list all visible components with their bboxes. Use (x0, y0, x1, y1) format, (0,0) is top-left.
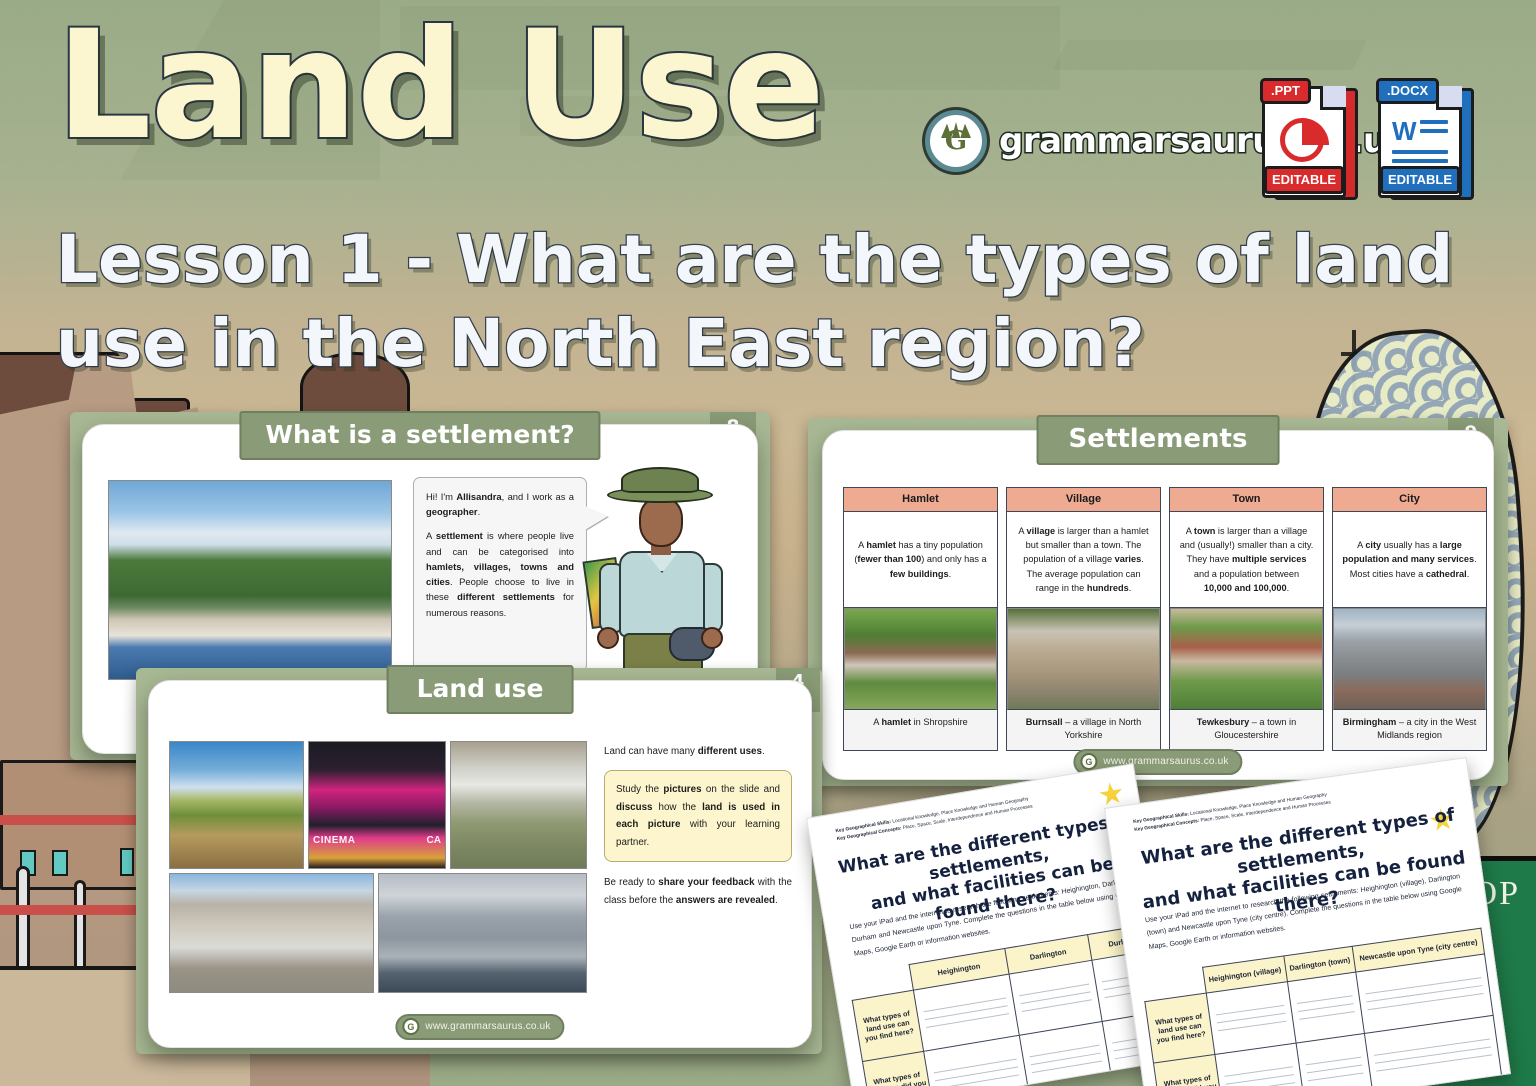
cinema-sign-label: CINEMA (313, 835, 355, 846)
hamlet-photo (844, 608, 997, 710)
bubble-paragraph-1: Hi! I'm Allisandra, and I work as a geog… (426, 489, 574, 519)
card-body-city: A city usually has a large population an… (1333, 512, 1486, 608)
file-format-badges: .PPT EDITABLE W .DOCX EDITABLE (1262, 78, 1474, 200)
character-head (639, 497, 683, 547)
land-use-callout-box: Study the pictures on the slide and disc… (604, 770, 792, 862)
slide-title-settlements: Settlements (1037, 415, 1280, 465)
city-photo (1333, 608, 1486, 710)
card-caption-hamlet: A hamlet in Shropshire (844, 710, 997, 750)
table-answer-cell[interactable] (1206, 982, 1296, 1055)
table-row-label-1: What types of land use can you find here… (1145, 993, 1215, 1063)
header: Land Use Lesson 1 - What are the types o… (0, 0, 1536, 400)
slide-land-use[interactable]: Land use CINEMA CA Land can have many di… (148, 680, 812, 1048)
page-title: Land Use (56, 10, 824, 163)
card-caption-village: Burnsall – a village in North Yorkshire (1007, 710, 1160, 750)
doc-lines-icon (1420, 120, 1448, 138)
card-body-village: A village is larger than a hamlet but sm… (1007, 512, 1160, 608)
settlement-card-list: Hamlet A hamlet has a tiny population (f… (843, 487, 1487, 751)
card-caption-town: Tewkesbury – a town in Gloucestershire (1170, 710, 1323, 750)
docx-ext-label: .DOCX (1376, 78, 1439, 104)
slide-title-landuse: Land use (387, 665, 574, 714)
docx-badge: W .DOCX EDITABLE (1378, 78, 1474, 200)
town-photo (1170, 608, 1323, 710)
grammarsaurus-logo-icon: G (402, 1018, 419, 1035)
card-header-town: Town (1170, 488, 1323, 512)
speech-bubble: Hi! I'm Allisandra, and I work as a geog… (413, 477, 587, 672)
character-hand-right (701, 627, 723, 649)
slide-title-settlement: What is a settlement? (239, 411, 600, 460)
star-icon (1097, 780, 1125, 808)
word-document-icon: W (1392, 116, 1417, 147)
page-fold-icon (1320, 86, 1346, 110)
leaf-icon (941, 122, 971, 138)
worksheet-settlements-right[interactable]: Key Geographical Skills: Locational Know… (1104, 757, 1511, 1086)
grammarsaurus-logo-icon: G (925, 110, 987, 172)
card-body-town: A town is larger than a village and (usu… (1170, 512, 1323, 608)
page-fold-icon (1436, 86, 1462, 110)
land-use-text-panel: Land can have many different uses. Study… (604, 743, 792, 909)
table-row-label-1: What types of land use can you find here… (852, 990, 923, 1061)
settlement-card-village: Village A village is larger than a hamle… (1006, 487, 1161, 751)
settlement-card-city: City A city usually has a large populati… (1332, 487, 1487, 751)
slide-footer-url-landuse: G www.grammarsaurus.co.uk (395, 1014, 564, 1040)
farmland-photo (169, 741, 304, 869)
land-use-outro: Be ready to share your feedback with the… (604, 874, 792, 909)
settlement-card-hamlet: Hamlet A hamlet has a tiny population (f… (843, 487, 998, 751)
docx-editable-label: EDITABLE (1380, 166, 1460, 194)
slide-settlements[interactable]: Settlements Hamlet A hamlet has a tiny p… (822, 430, 1494, 780)
hat-icon (621, 467, 699, 493)
character-hand-left (597, 627, 619, 649)
card-body-hamlet: A hamlet has a tiny population (fewer th… (844, 512, 997, 608)
card-header-city: City (1333, 488, 1486, 512)
settlement-card-town: Town A town is larger than a village and… (1169, 487, 1324, 751)
industry-photo (450, 741, 587, 869)
bg-window (52, 850, 68, 876)
village-photo (1007, 608, 1160, 710)
card-caption-city: Birmingham – a city in the West Midlands… (1333, 710, 1486, 750)
grammarsaurus-logo-icon: G (1080, 753, 1097, 770)
pie-chart-icon (1280, 118, 1324, 162)
cinema-sign-label-2: CA (427, 835, 441, 846)
land-use-callout-text: Study the pictures on the slide and disc… (616, 781, 780, 851)
bg-window (120, 848, 134, 876)
ppt-badge: .PPT EDITABLE (1262, 78, 1358, 200)
bubble-paragraph-2: A settlement is where people live and ca… (426, 528, 574, 619)
terraced-houses-photo (169, 873, 374, 993)
land-use-photo-grid: CINEMA CA (169, 741, 587, 993)
page-subtitle: Lesson 1 - What are the types of land us… (56, 218, 1456, 387)
ppt-editable-label: EDITABLE (1264, 166, 1344, 194)
card-header-village: Village (1007, 488, 1160, 512)
office-building-photo (378, 873, 587, 993)
cinema-photo: CINEMA CA (308, 741, 446, 869)
riverside-village-photo (108, 480, 392, 680)
table-answer-cell[interactable] (1296, 1033, 1373, 1086)
table-answer-cell[interactable] (1287, 972, 1364, 1043)
worksheet-table-right[interactable]: Heighington (village) Darlington (town) … (1141, 928, 1503, 1086)
card-header-hamlet: Hamlet (844, 488, 997, 512)
ppt-ext-label: .PPT (1260, 78, 1311, 104)
land-use-intro: Land can have many different uses. (604, 743, 792, 760)
